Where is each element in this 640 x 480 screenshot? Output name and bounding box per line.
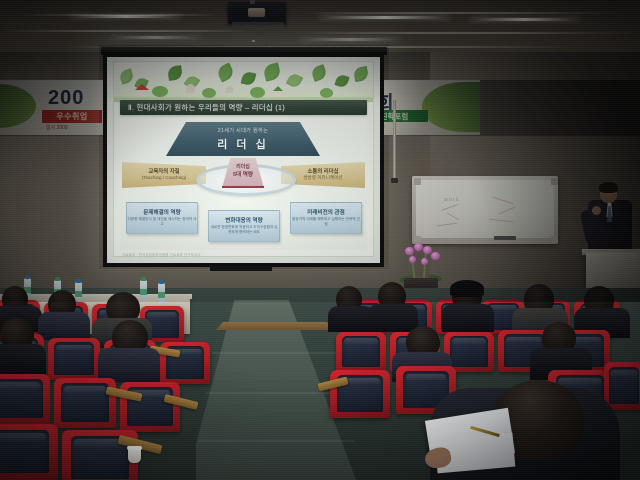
seat (336, 332, 386, 372)
seat-highlight (610, 370, 637, 378)
seat (48, 338, 100, 380)
projector-lens-icon (248, 8, 265, 17)
person-shoulders (442, 304, 494, 332)
person-shoulders (0, 344, 46, 376)
aisle-step (198, 440, 354, 442)
aisle-step (206, 392, 346, 394)
person-shoulders (368, 304, 418, 332)
lecture-hall-photo: 200 우수취업 일시 2009 수회 공진학포럼 한국 학생문화교 (0, 0, 640, 480)
aisle-step (212, 352, 338, 354)
seat-highlight (406, 374, 447, 382)
aisle-step-wood (216, 322, 334, 330)
ceiling-seam (290, 32, 640, 34)
cup-rim (127, 446, 142, 450)
seat-highlight (506, 337, 541, 344)
seat-highlight (0, 433, 46, 442)
seat (0, 424, 58, 480)
person-shoulders (38, 312, 90, 340)
ceiling-seam (0, 30, 250, 32)
seat-highlight (0, 382, 40, 390)
projector-beam (232, 22, 284, 28)
projector-mount (250, 0, 255, 4)
seat-highlight (558, 378, 602, 386)
seat-highlight (147, 312, 177, 318)
seat (54, 378, 116, 428)
ceiling-light (470, 18, 580, 21)
seat-highlight (452, 338, 486, 344)
paper-cup (128, 448, 141, 463)
seat (604, 362, 640, 410)
seat-highlight (64, 386, 106, 394)
seat-highlight (56, 345, 91, 352)
ceiling-light (300, 38, 400, 41)
ceiling-light (110, 36, 200, 39)
ceiling-light (70, 15, 180, 18)
seat (120, 382, 180, 432)
wall-shading (0, 52, 640, 302)
ceiling-light (320, 16, 450, 19)
ceiling-seam (300, 12, 620, 14)
seat (0, 374, 50, 424)
projector-indicator (252, 40, 255, 42)
person-shoulders (98, 348, 160, 382)
seat-highlight (344, 338, 378, 344)
